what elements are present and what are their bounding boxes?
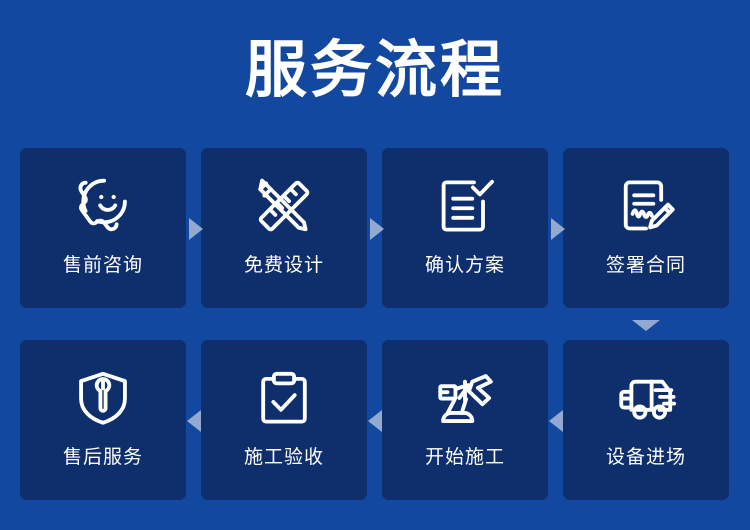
arrow-left-icon xyxy=(368,410,382,432)
step-card-construction-acceptance[interactable]: 施工验收 xyxy=(201,340,367,500)
pencil-ruler-icon xyxy=(248,170,320,242)
arrow-right-icon xyxy=(189,218,203,240)
arrow-right-icon xyxy=(551,218,565,240)
page-title: 服务流程 xyxy=(0,0,750,140)
document-check-icon xyxy=(429,170,501,242)
step-label: 确认方案 xyxy=(425,256,505,275)
step-card-confirm-plan[interactable]: 确认方案 xyxy=(382,148,548,308)
step-card-sign-contract[interactable]: 签署合同 xyxy=(563,148,729,308)
phone-smiley-icon xyxy=(67,170,139,242)
step-label: 免费设计 xyxy=(244,256,324,275)
contract-signature-icon xyxy=(610,170,682,242)
delivery-truck-icon xyxy=(610,362,682,434)
service-process-infographic: 服务流程 售前咨询 xyxy=(0,0,750,530)
clipboard-check-icon xyxy=(248,362,320,434)
step-label: 设备进场 xyxy=(606,448,686,467)
step-label: 施工验收 xyxy=(244,448,324,467)
step-card-free-design[interactable]: 免费设计 xyxy=(201,148,367,308)
arrow-left-icon xyxy=(187,410,201,432)
step-label: 售前咨询 xyxy=(63,256,143,275)
step-card-start-construction[interactable]: 开始施工 xyxy=(382,340,548,500)
excavator-icon xyxy=(429,362,501,434)
steps-row-1: 售前咨询 xyxy=(20,148,730,308)
shield-wrench-icon xyxy=(67,362,139,434)
step-card-pre-sales-consulting[interactable]: 售前咨询 xyxy=(20,148,186,308)
steps-row-2: 售后服务 施工验收 xyxy=(20,340,730,500)
step-label: 签署合同 xyxy=(606,256,686,275)
arrow-down-icon xyxy=(632,320,660,331)
step-card-equipment-arrival[interactable]: 设备进场 xyxy=(563,340,729,500)
step-card-after-sales-service[interactable]: 售后服务 xyxy=(20,340,186,500)
arrow-right-icon xyxy=(370,218,384,240)
arrow-left-icon xyxy=(549,410,563,432)
steps-grid: 售前咨询 xyxy=(20,148,730,500)
step-label: 售后服务 xyxy=(63,448,143,467)
step-label: 开始施工 xyxy=(425,448,505,467)
